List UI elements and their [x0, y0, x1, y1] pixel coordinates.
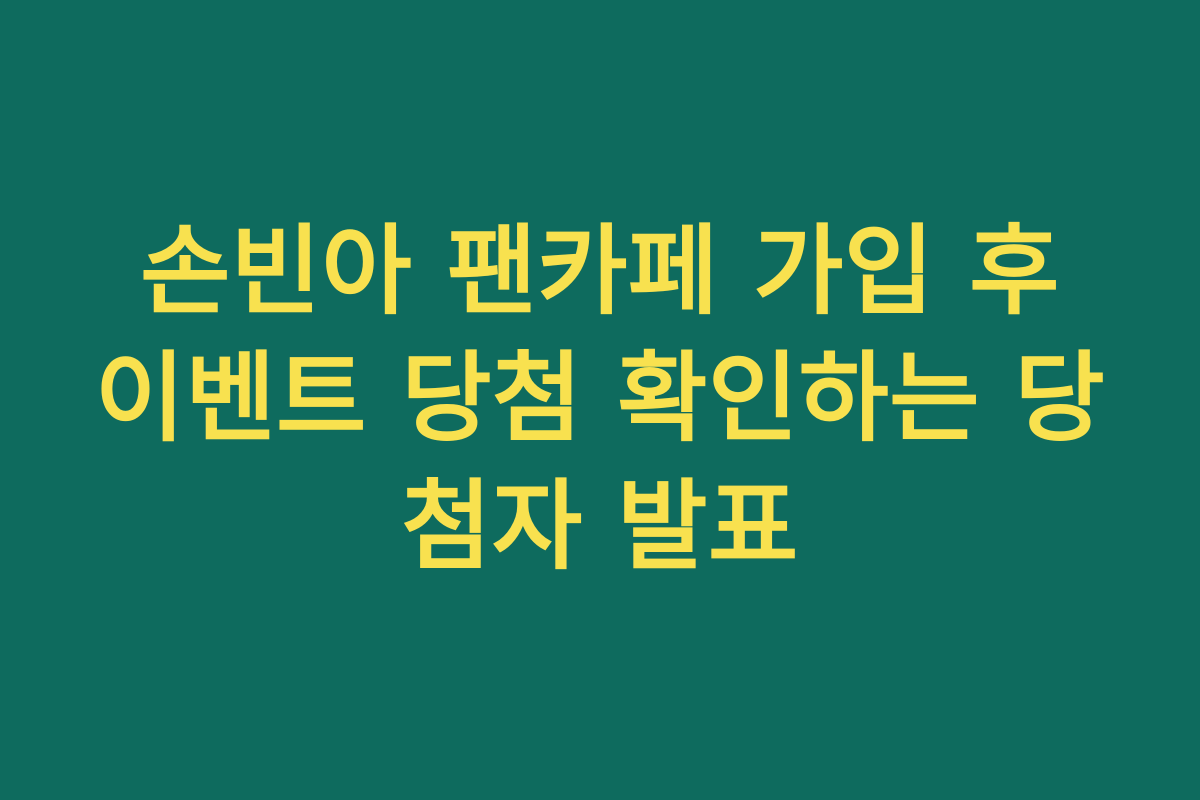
title-line-1: 손빈아 팬카페 가입 후 — [80, 209, 1120, 336]
title-card: 손빈아 팬카페 가입 후 이벤트 당첨 확인하는 당 첨자 발표 — [0, 0, 1200, 800]
title-line-2: 이벤트 당첨 확인하는 당 — [80, 336, 1120, 463]
title-text-block: 손빈아 팬카페 가입 후 이벤트 당첨 확인하는 당 첨자 발표 — [60, 209, 1140, 591]
title-line-3: 첨자 발표 — [80, 464, 1120, 591]
